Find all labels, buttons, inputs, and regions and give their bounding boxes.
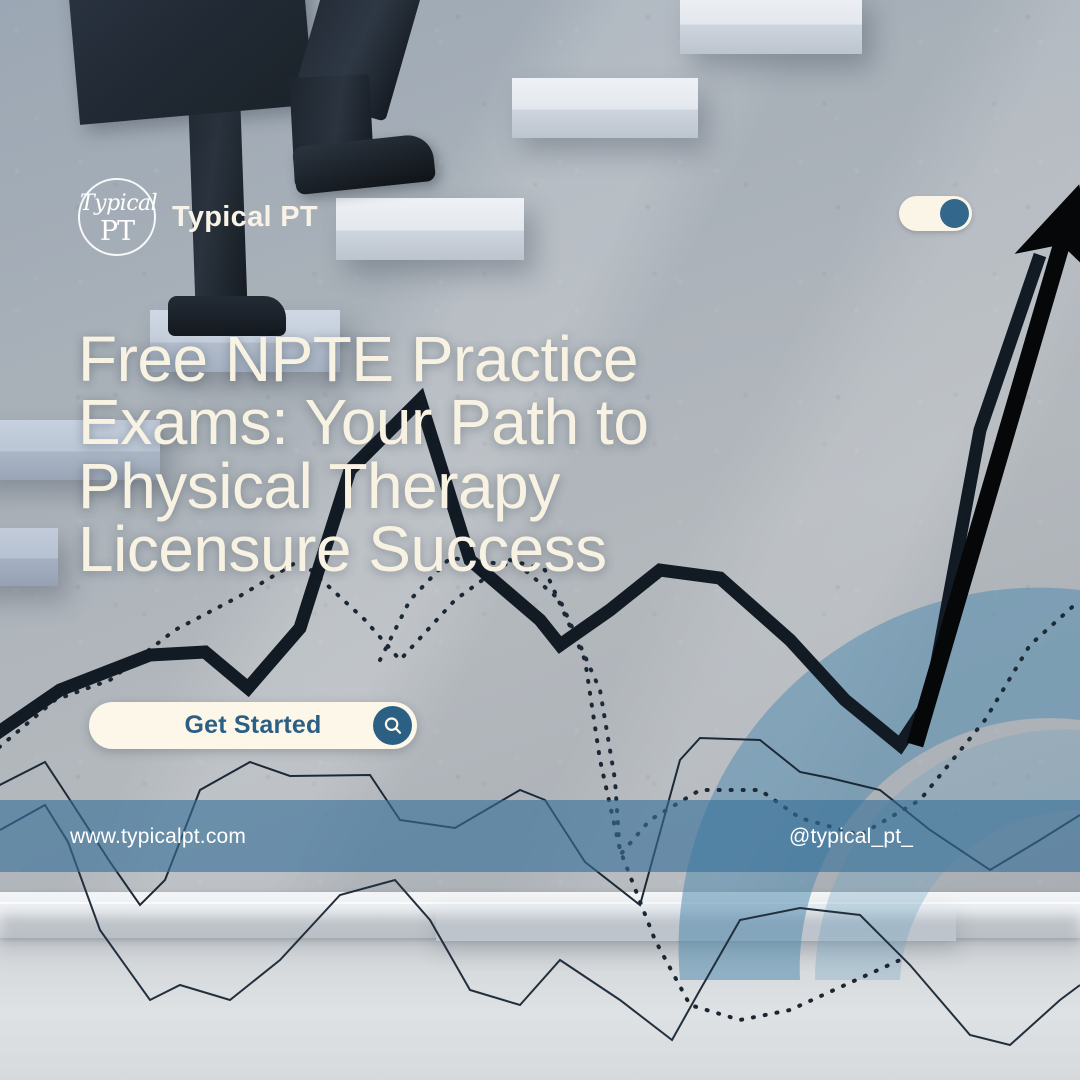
- brand-logo[interactable]: Typical PT Typical PT: [78, 178, 318, 256]
- website-url[interactable]: www.typicalpt.com: [70, 825, 246, 849]
- brand-name: Typical PT: [172, 201, 318, 234]
- page-title: Free NPTE Practice Exams: Your Path to P…: [78, 328, 838, 581]
- get-started-label: Get Started: [185, 711, 322, 740]
- social-post-canvas: Typical PT Typical PT Free NPTE Practice…: [0, 0, 1080, 1080]
- social-handle[interactable]: @typical_pt_: [789, 825, 913, 849]
- toggle-switch[interactable]: [899, 196, 972, 231]
- logo-initials-text: PT: [80, 218, 154, 245]
- get-started-button[interactable]: Get Started: [89, 702, 417, 749]
- chart-series-dotted-a: [0, 560, 900, 1020]
- logo-script-text: Typical: [80, 193, 154, 215]
- toggle-knob[interactable]: [940, 199, 969, 228]
- upward-arrow-icon: [915, 243, 1062, 745]
- brand-circle-logo-icon: Typical PT: [78, 178, 156, 256]
- search-icon[interactable]: [373, 706, 412, 745]
